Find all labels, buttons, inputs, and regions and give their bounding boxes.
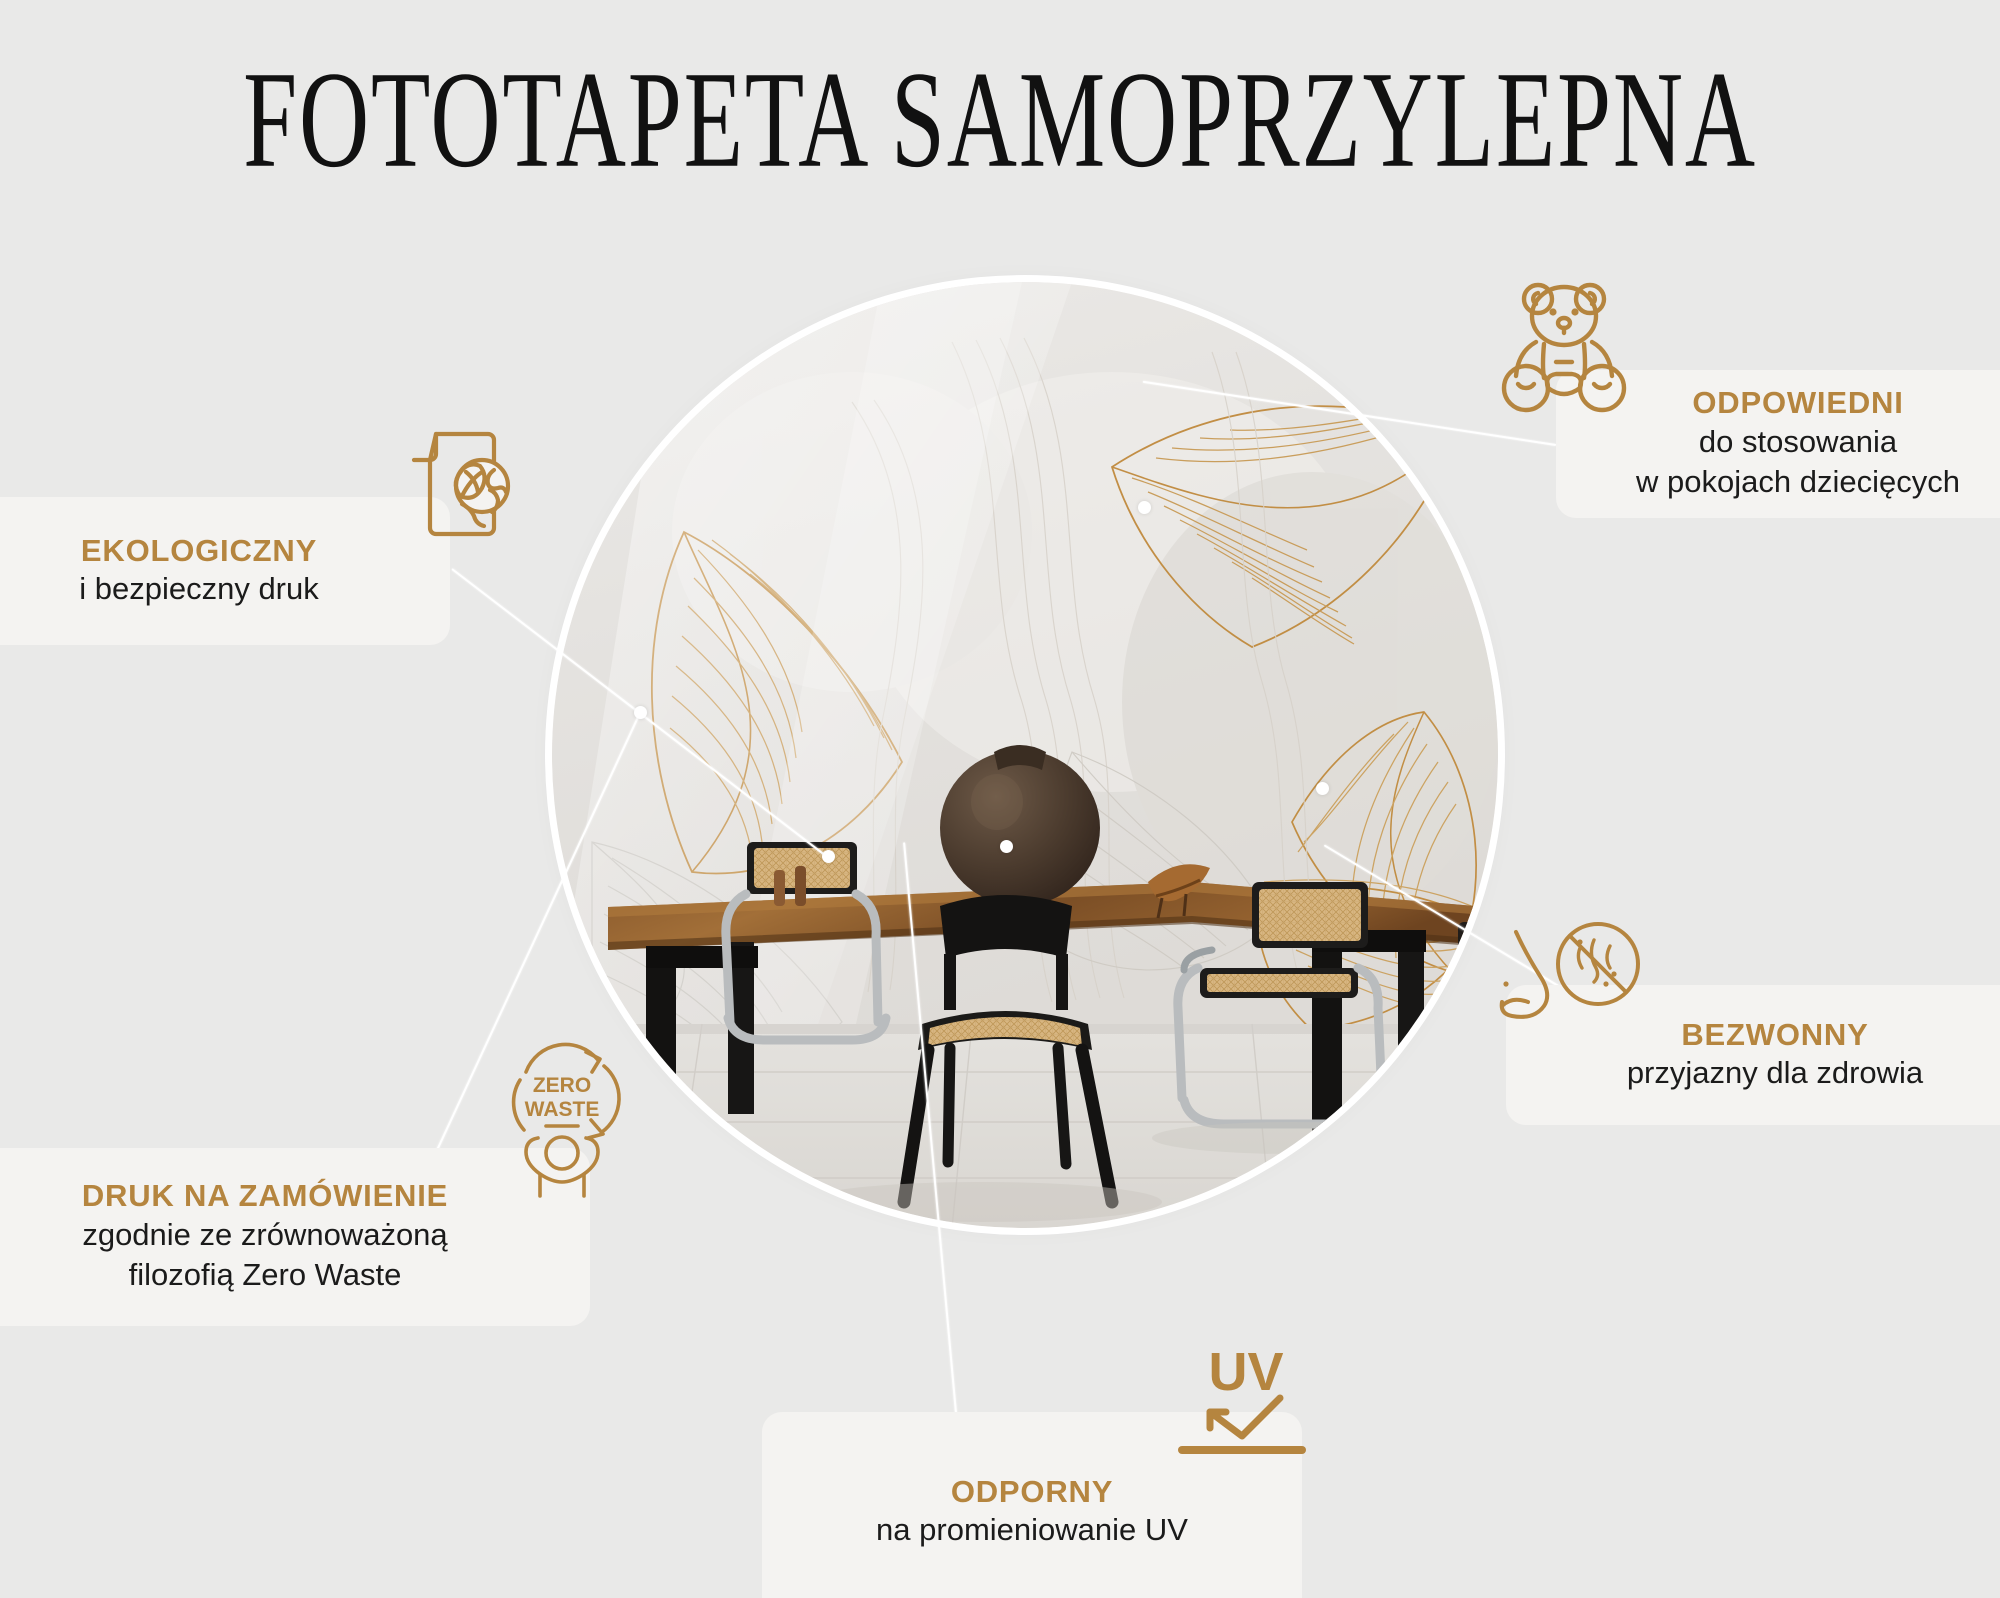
feature-headline-ekologiczny: EKOLOGICZNY xyxy=(81,533,317,570)
eco-document-globe-leaf-icon xyxy=(402,424,522,544)
zero-waste-icon-line2: WASTE xyxy=(525,1098,600,1121)
connector-dot-zero xyxy=(634,706,647,719)
teddy-bear-icon xyxy=(1498,276,1636,416)
feature-sub-ekologiczny: i bezpieczny druk xyxy=(79,569,319,609)
connector-dot-uv xyxy=(1000,840,1013,853)
feature-sub-bezwonny: przyjazny dla zdrowia xyxy=(1627,1053,1923,1093)
feature-headline-odpowiedni: ODPOWIEDNI xyxy=(1692,385,1903,422)
feature-sub-odpowiedni: do stosowania w pokojach dziecięcych xyxy=(1636,422,1960,503)
no-odor-nose-icon xyxy=(1494,918,1646,1042)
connector-dot-eko xyxy=(822,850,835,863)
feature-headline-odporny-uv: ODPORNY xyxy=(951,1474,1113,1511)
infographic-canvas: FOTOTAPETA SAMOPRZYLEPNA xyxy=(0,0,2000,1598)
connector-dot-kids xyxy=(1138,501,1151,514)
uv-resistant-icon: UV xyxy=(1176,1340,1334,1470)
feature-headline-bezwonny: BEZWONNY xyxy=(1681,1017,1868,1054)
feature-headline-druk-na-zamowienie: DRUK NA ZAMÓWIENIE xyxy=(82,1178,448,1215)
page-title: FOTOTAPETA SAMOPRZYLEPNA xyxy=(100,48,1900,193)
zero-waste-icon-line1: ZERO xyxy=(533,1074,591,1097)
feature-panel-ekologiczny: EKOLOGICZNY i bezpieczny druk xyxy=(0,497,450,645)
feature-sub-odporny-uv: na promieniowanie UV xyxy=(876,1510,1188,1550)
connector-dot-odor xyxy=(1316,782,1329,795)
uv-icon-label: UV xyxy=(1208,1342,1283,1402)
feature-sub-druk-na-zamowienie: zgodnie ze zrównoważoną filozofią Zero W… xyxy=(82,1215,447,1296)
zero-waste-hands-icon: ZERO WASTE xyxy=(498,1046,626,1198)
